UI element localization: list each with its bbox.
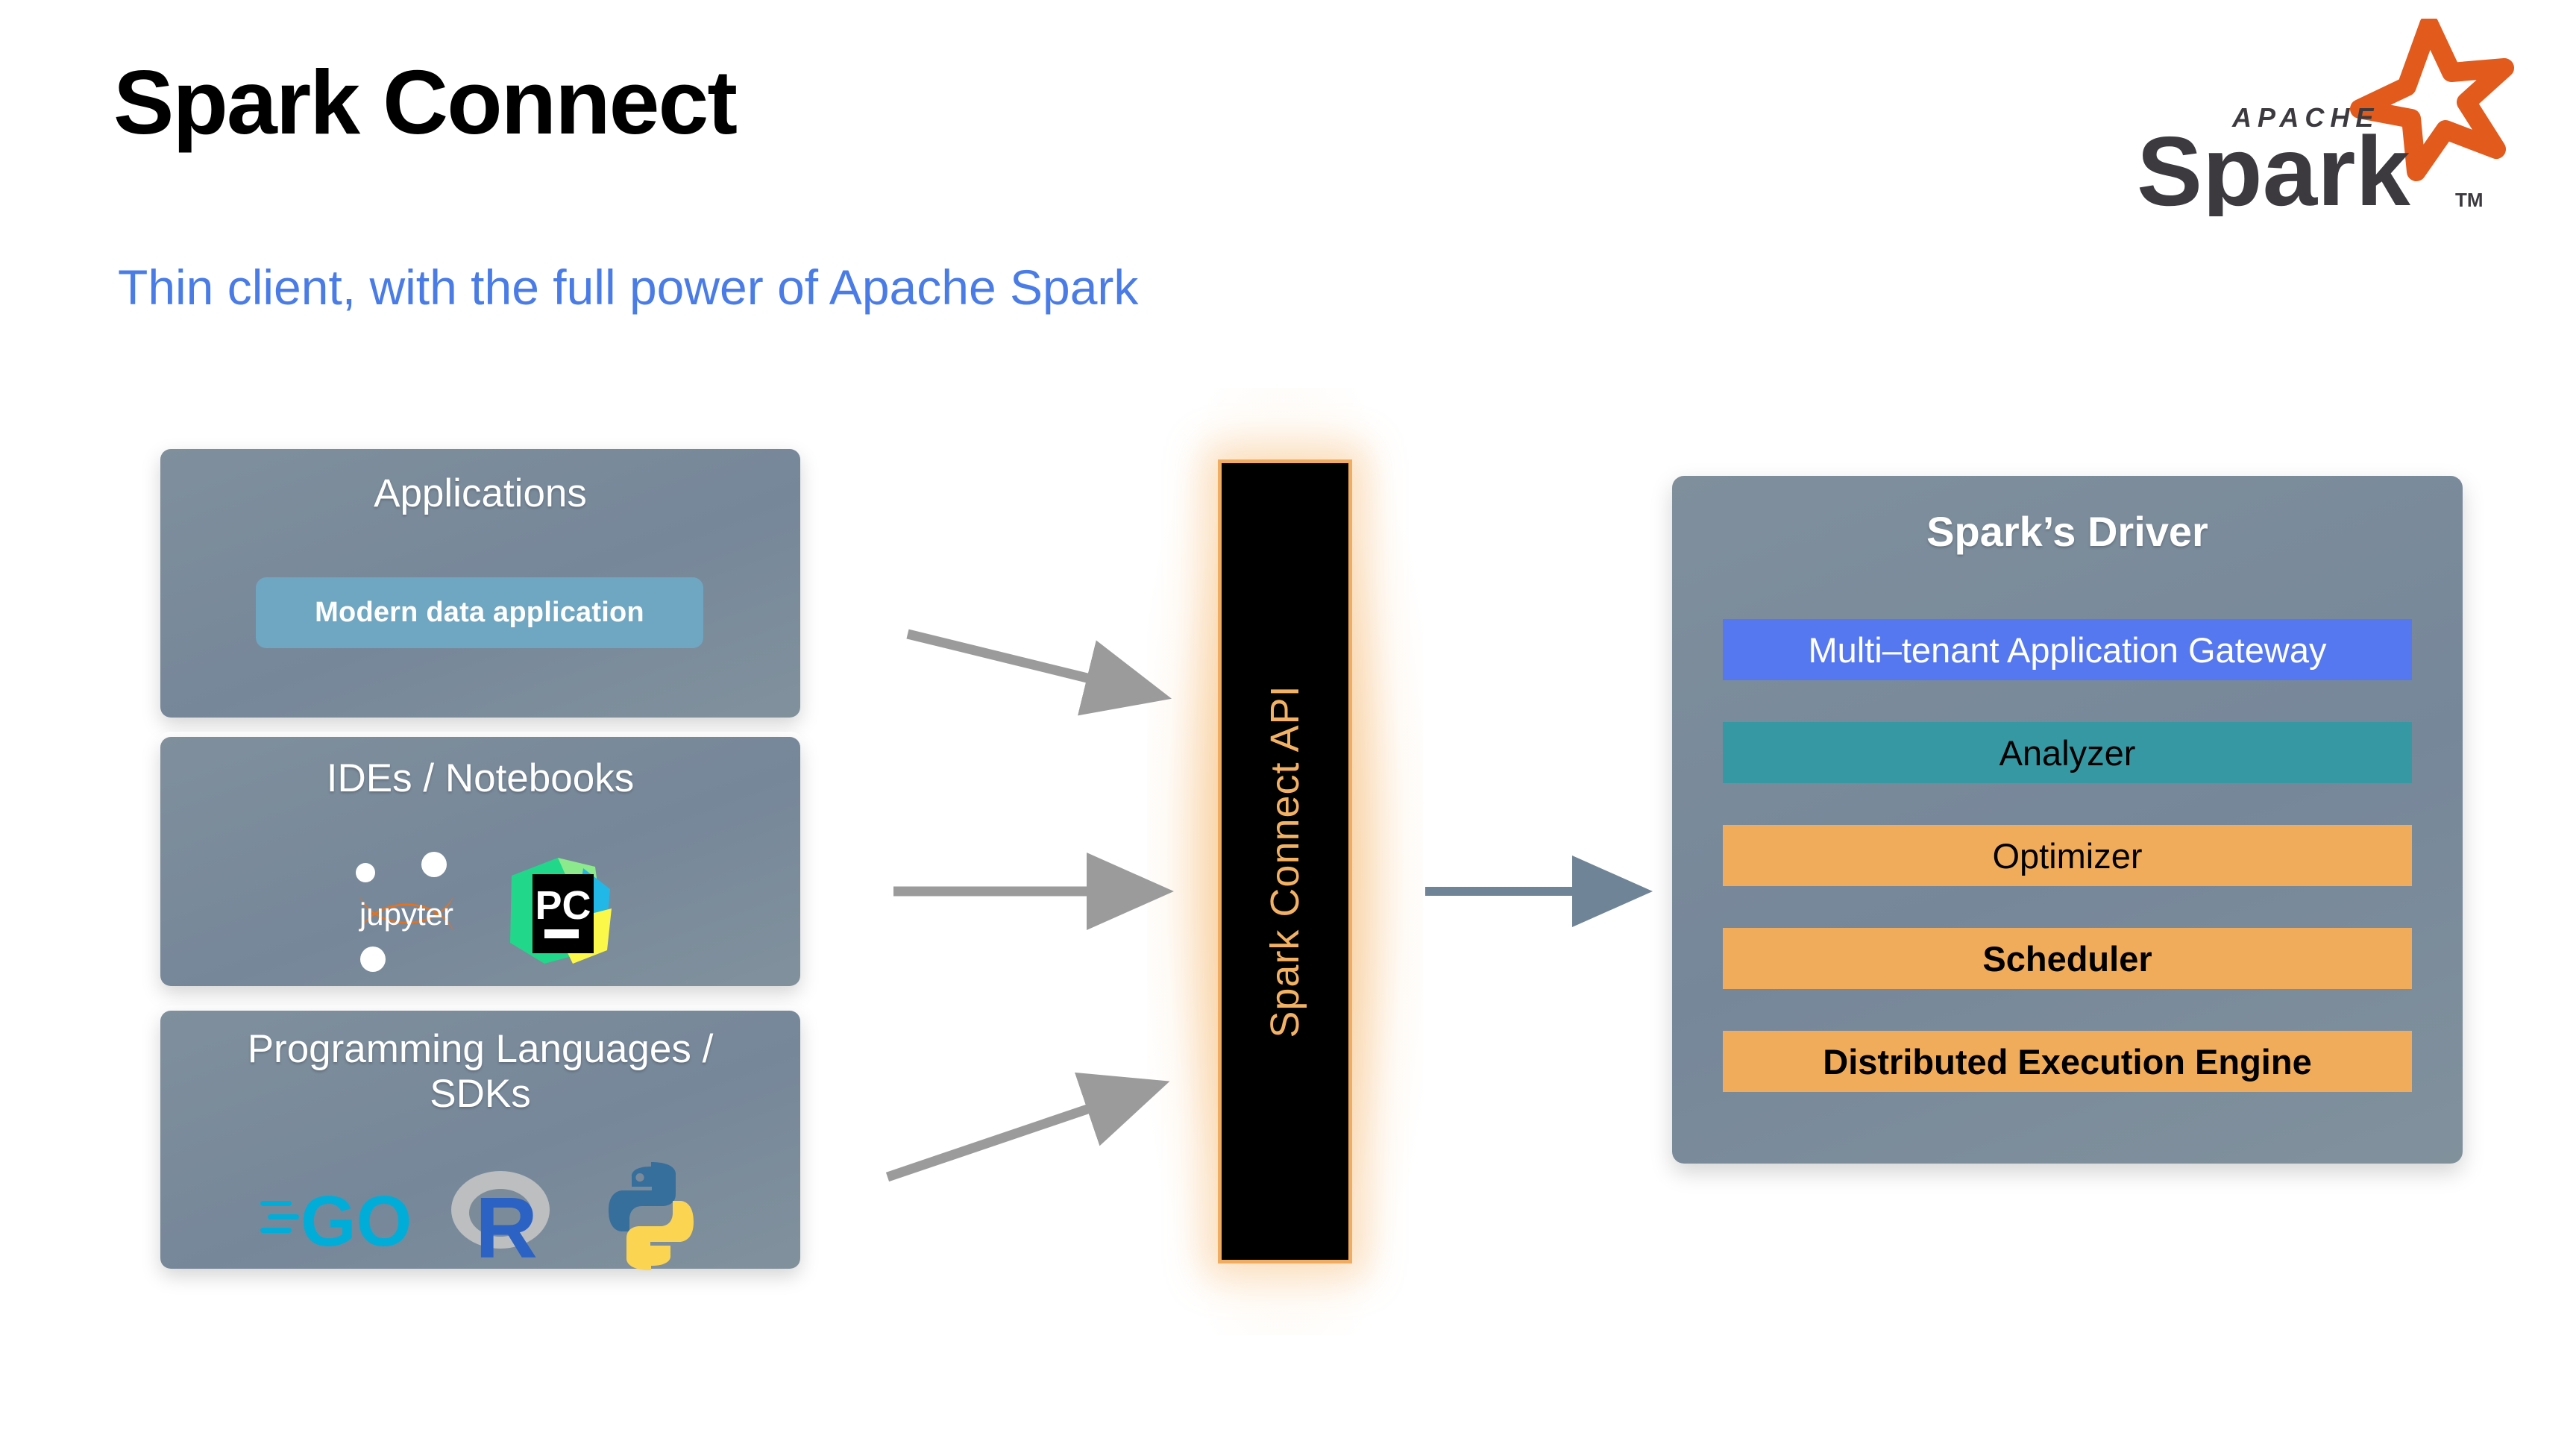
driver-row-label: Multi–tenant Application Gateway bbox=[1809, 633, 2327, 668]
page-title: Spark Connect bbox=[113, 57, 736, 148]
driver-row-label: Analyzer bbox=[1999, 735, 2136, 770]
arrow-applications-to-api bbox=[908, 634, 1096, 680]
driver-row-execution-engine[interactable]: Distributed Execution Engine bbox=[1723, 1031, 2412, 1092]
client-box-title: IDEs / Notebooks bbox=[160, 756, 800, 801]
client-box-languages[interactable]: Programming Languages / SDKs GO R bbox=[160, 1011, 800, 1269]
language-logo-row: GO R bbox=[160, 1160, 800, 1272]
pycharm-letters: PC bbox=[535, 883, 591, 928]
client-box-title: Applications bbox=[160, 471, 800, 516]
client-box-title: Programming Languages / SDKs bbox=[160, 1027, 800, 1117]
notebook-logo-row: jupyter PC bbox=[160, 847, 800, 974]
driver-row-optimizer[interactable]: Optimizer bbox=[1723, 825, 2412, 886]
pycharm-logo: PC bbox=[506, 855, 618, 967]
driver-row-scheduler[interactable]: Scheduler bbox=[1723, 928, 2412, 989]
apache-spark-logo: APACHE Spark TM bbox=[2129, 19, 2517, 216]
svg-text:Spark: Spark bbox=[2137, 116, 2410, 216]
driver-row-label: Optimizer bbox=[1992, 838, 2142, 873]
driver-row-label: Scheduler bbox=[1982, 941, 2152, 976]
go-wordmark: GO bbox=[301, 1181, 412, 1261]
r-logo: R bbox=[447, 1164, 566, 1268]
client-box-applications[interactable]: Applications Modern data application bbox=[160, 449, 800, 718]
client-box-notebooks[interactable]: IDEs / Notebooks jupyter bbox=[160, 737, 800, 986]
driver-row-label: Distributed Execution Engine bbox=[1823, 1044, 2311, 1079]
modern-data-application-label: Modern data application bbox=[315, 597, 644, 629]
jupyter-wordmark: jupyter bbox=[358, 897, 453, 932]
modern-data-application-chip[interactable]: Modern data application bbox=[256, 577, 703, 648]
slide-canvas: Spark Connect Thin client, with the full… bbox=[0, 0, 2576, 1447]
r-letter: R bbox=[475, 1179, 538, 1268]
spark-connect-api-bar[interactable]: Spark Connect API bbox=[1218, 459, 1352, 1264]
jupyter-logo: jupyter bbox=[343, 847, 470, 974]
spark-driver-title: Spark’s Driver bbox=[1672, 507, 2463, 556]
driver-row-analyzer[interactable]: Analyzer bbox=[1723, 722, 2412, 783]
go-logo: GO bbox=[257, 1171, 414, 1261]
page-subtitle: Thin client, with the full power of Apac… bbox=[118, 263, 1138, 312]
svg-text:TM: TM bbox=[2455, 189, 2484, 211]
python-logo bbox=[599, 1162, 703, 1270]
arrow-languages-to-api bbox=[888, 1106, 1096, 1177]
spark-driver-panel[interactable]: Spark’s Driver Multi–tenant Application … bbox=[1672, 476, 2463, 1164]
spark-connect-api-label: Spark Connect API bbox=[1262, 685, 1308, 1038]
driver-row-gateway[interactable]: Multi–tenant Application Gateway bbox=[1723, 619, 2412, 680]
